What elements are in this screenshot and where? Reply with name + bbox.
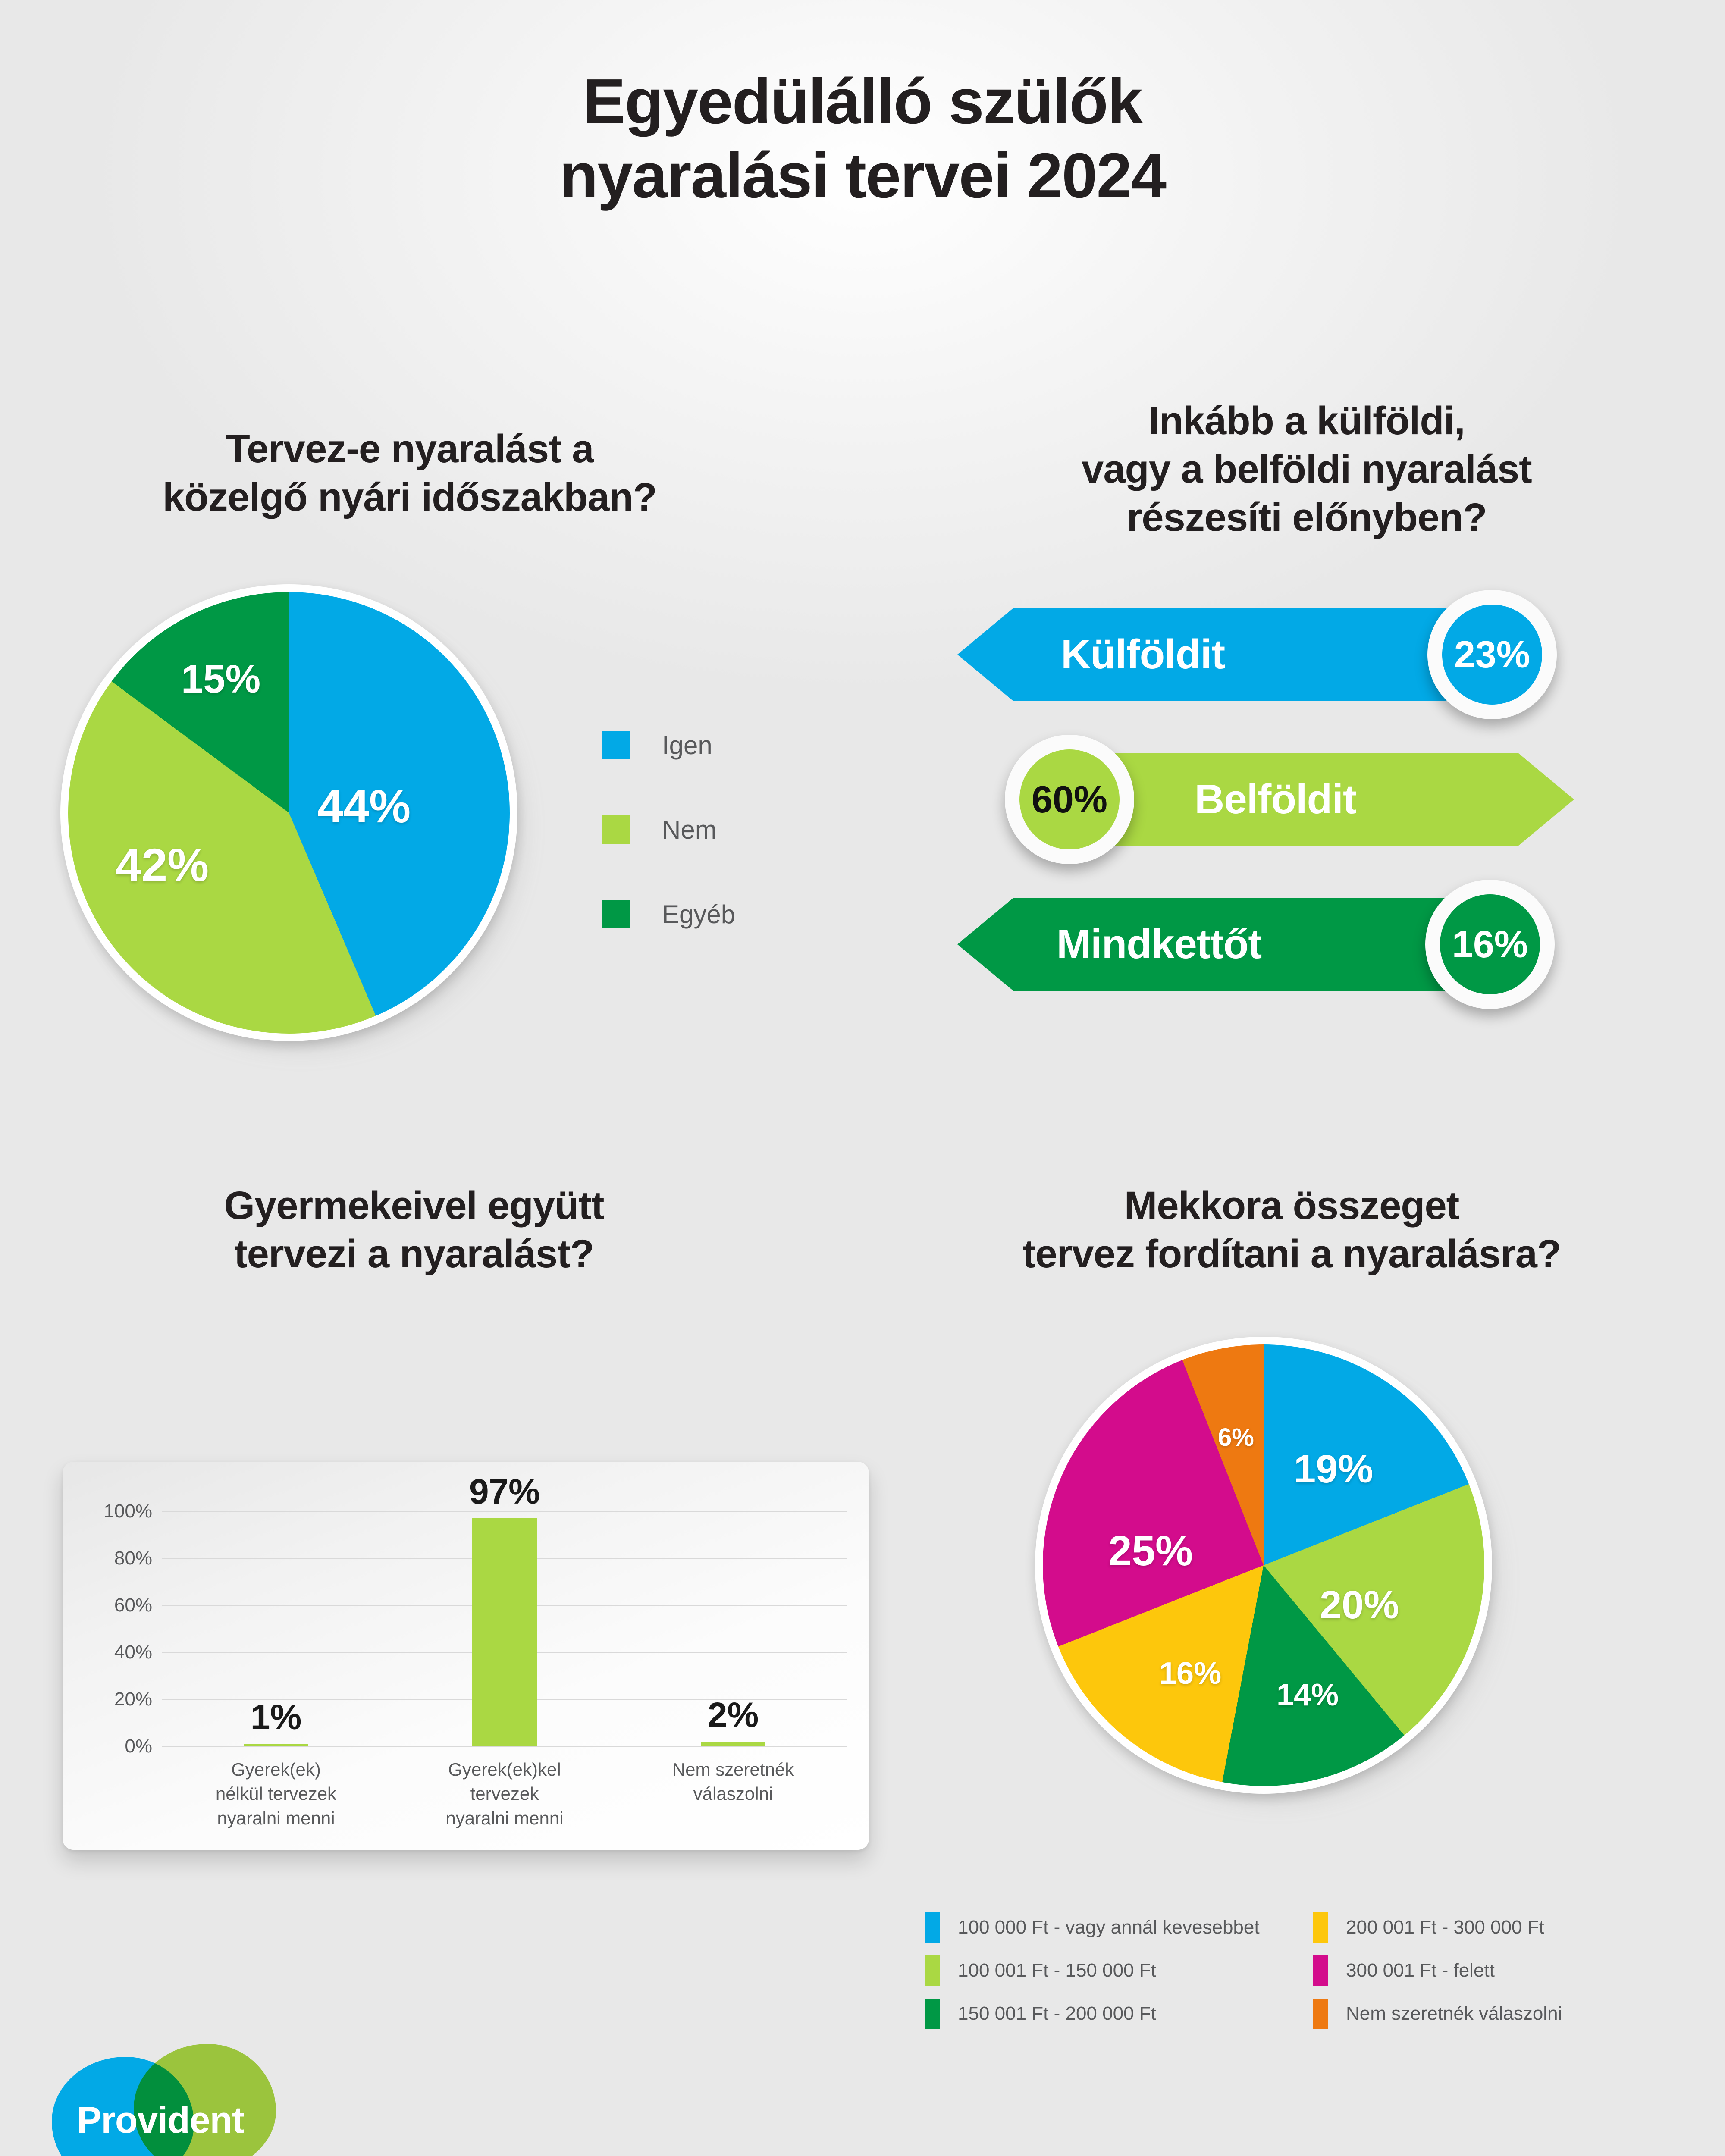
- heading-q2-line2: vagy a belföldi nyaralást: [940, 445, 1673, 493]
- page-title: Egyedülálló szülők nyaralási tervei 2024: [0, 65, 1725, 213]
- legend-label-nonresponse: Nem szeretnék válaszolni: [1346, 2003, 1562, 2024]
- bar-value-label: 1%: [251, 1697, 302, 1738]
- pie-slice-label-egyeb: 15%: [181, 657, 260, 702]
- pie-legend-budget: 100 000 Ft - vagy annál kevesebbet 200 0…: [925, 1906, 1697, 2035]
- legend-label-igen: Igen: [662, 730, 712, 760]
- pie-chart-vacation-plan: 44% 42% 15%: [60, 584, 517, 1041]
- section-heading-q2: Inkább a külföldi, vagy a belföldi nyara…: [940, 397, 1673, 542]
- legend-item: 100 001 Ft - 150 000 Ft: [925, 1949, 1309, 1992]
- legend-swatch-nonresponse: [1313, 1999, 1328, 2029]
- provident-logo: Provident: [52, 2044, 293, 2156]
- arrow-label-belfoldit: Belföldit: [1195, 776, 1356, 823]
- arrow-row-belfoldit: Belföldit 60%: [953, 731, 1699, 869]
- y-axis-tick-label: 80%: [114, 1548, 152, 1569]
- section-heading-q1: Tervez-e nyaralást a közelgő nyári idősz…: [52, 425, 768, 521]
- heading-q4-line1: Mekkora összeget: [919, 1181, 1665, 1230]
- arrow-badge-value-kulfoldit: 23%: [1442, 605, 1542, 705]
- bar: [701, 1742, 765, 1746]
- section-heading-q4: Mekkora összeget tervez fordítani a nyar…: [919, 1181, 1665, 1278]
- arrow-row-kulfoldit: Külföldit 23%: [953, 586, 1699, 724]
- arrow-badge-value-belfoldit: 60%: [1019, 749, 1120, 849]
- legend-swatch-100000: [925, 1912, 940, 1943]
- legend-swatch-egyeb: [602, 900, 630, 928]
- heading-q1-line2: közelgő nyári időszakban?: [52, 473, 768, 521]
- pie-slices: [68, 592, 510, 1034]
- legend-label-nem: Nem: [662, 815, 717, 845]
- bar: [244, 1744, 308, 1746]
- legend-swatch-nem: [602, 815, 630, 844]
- legend-swatch-200001: [1313, 1912, 1328, 1943]
- bar-value-label: 2%: [708, 1695, 759, 1736]
- bar-category-label: Nem szeretnékválaszolni: [632, 1758, 834, 1806]
- arrow-shape-mindkettot: Mindkettőt: [957, 898, 1458, 991]
- heading-q3-line2: tervezi a nyaralást?: [60, 1230, 768, 1278]
- heading-q2-line3: részesíti előnyben?: [940, 493, 1673, 542]
- heading-q2-line1: Inkább a külföldi,: [940, 397, 1673, 445]
- pie-slice-label-6: 6%: [1218, 1423, 1254, 1452]
- arrow-stat-group: Külföldit 23% Belföldit 60% Mindkettőt 1…: [953, 586, 1699, 1104]
- logo-text: Provident: [77, 2099, 244, 2142]
- legend-item: Nem: [602, 787, 787, 872]
- bar-value-label: 97%: [469, 1472, 540, 1512]
- legend-item: 150 001 Ft - 200 000 Ft: [925, 1992, 1309, 2035]
- heading-q3-line1: Gyermekeivel együtt: [60, 1181, 768, 1230]
- legend-swatch-igen: [602, 731, 630, 759]
- arrow-label-mindkettot: Mindkettőt: [1057, 921, 1261, 968]
- legend-swatch-150001: [925, 1999, 940, 2029]
- pie-slice-label-nem: 42%: [116, 838, 209, 892]
- pie-slice-label-20: 20%: [1320, 1583, 1399, 1628]
- legend-item: 100 000 Ft - vagy annál kevesebbet: [925, 1906, 1309, 1949]
- bar-chart-plot-area: 0%20%40%60%80%100%1%Gyerek(ek)nélkül ter…: [162, 1488, 847, 1746]
- y-axis-tick-label: 100%: [103, 1501, 152, 1522]
- legend-label-egyeb: Egyéb: [662, 899, 735, 929]
- bar-chart-card: 0%20%40%60%80%100%1%Gyerek(ek)nélkül ter…: [63, 1462, 869, 1850]
- legend-item: 200 001 Ft - 300 000 Ft: [1313, 1906, 1697, 1949]
- legend-swatch-300001: [1313, 1955, 1328, 1986]
- section-heading-q3: Gyermekeivel együtt tervezi a nyaralást?: [60, 1181, 768, 1278]
- page-title-line1: Egyedülálló szülők: [0, 65, 1725, 139]
- pie-legend-vacation-plan: Igen Nem Egyéb: [602, 703, 787, 956]
- arrow-row-mindkettot: Mindkettőt 16%: [953, 876, 1699, 1014]
- y-axis-tick-label: 0%: [125, 1736, 152, 1757]
- pie-chart-budget: 19% 20% 14% 16% 25% 6%: [1035, 1337, 1492, 1794]
- legend-label-300001: 300 001 Ft - felett: [1346, 1960, 1495, 1981]
- y-axis-tick-label: 40%: [114, 1642, 152, 1663]
- bar-category-label: Gyerek(ek)nélkül tervezeknyaralni menni: [175, 1758, 377, 1830]
- legend-label-200001: 200 001 Ft - 300 000 Ft: [1346, 1917, 1544, 1938]
- arrow-badge-kulfoldit: 23%: [1427, 590, 1557, 719]
- pie-slice-label-25: 25%: [1108, 1526, 1193, 1575]
- heading-q1-line1: Tervez-e nyaralást a: [52, 425, 768, 473]
- heading-q4-line2: tervez fordítani a nyaralásra?: [919, 1230, 1665, 1278]
- arrow-badge-belfoldit: 60%: [1005, 735, 1134, 864]
- pie-slice-label-igen: 44%: [317, 779, 411, 833]
- legend-swatch-100001: [925, 1955, 940, 1986]
- legend-label-100000: 100 000 Ft - vagy annál kevesebbet: [958, 1917, 1260, 1938]
- arrow-badge-mindkettot: 16%: [1425, 880, 1555, 1009]
- arrow-shape-belfoldit: Belföldit: [1078, 753, 1574, 846]
- y-axis-tick-label: 60%: [114, 1595, 152, 1616]
- pie-slice-label-14: 14%: [1276, 1677, 1339, 1713]
- arrow-badge-value-mindkettot: 16%: [1440, 894, 1540, 994]
- bar-category-label: Gyerek(ek)keltervezeknyaralni menni: [403, 1758, 606, 1830]
- pie-slice-label-19: 19%: [1294, 1447, 1373, 1492]
- legend-item: Egyéb: [602, 872, 787, 956]
- gridline: [162, 1746, 847, 1747]
- legend-item: Igen: [602, 703, 787, 787]
- arrow-label-kulfoldit: Külföldit: [1061, 631, 1225, 678]
- page-title-line2: nyaralási tervei 2024: [0, 139, 1725, 213]
- legend-label-150001: 150 001 Ft - 200 000 Ft: [958, 2003, 1156, 2024]
- legend-label-100001: 100 001 Ft - 150 000 Ft: [958, 1960, 1156, 1981]
- pie-slice-label-16: 16%: [1159, 1656, 1221, 1691]
- bar: [472, 1518, 537, 1746]
- legend-item: 300 001 Ft - felett: [1313, 1949, 1697, 1992]
- legend-item: Nem szeretnék válaszolni: [1313, 1992, 1697, 2035]
- infographic-page: Egyedülálló szülők nyaralási tervei 2024…: [0, 0, 1725, 2156]
- arrow-shape-kulfoldit: Külföldit: [957, 608, 1458, 701]
- y-axis-tick-label: 20%: [114, 1689, 152, 1710]
